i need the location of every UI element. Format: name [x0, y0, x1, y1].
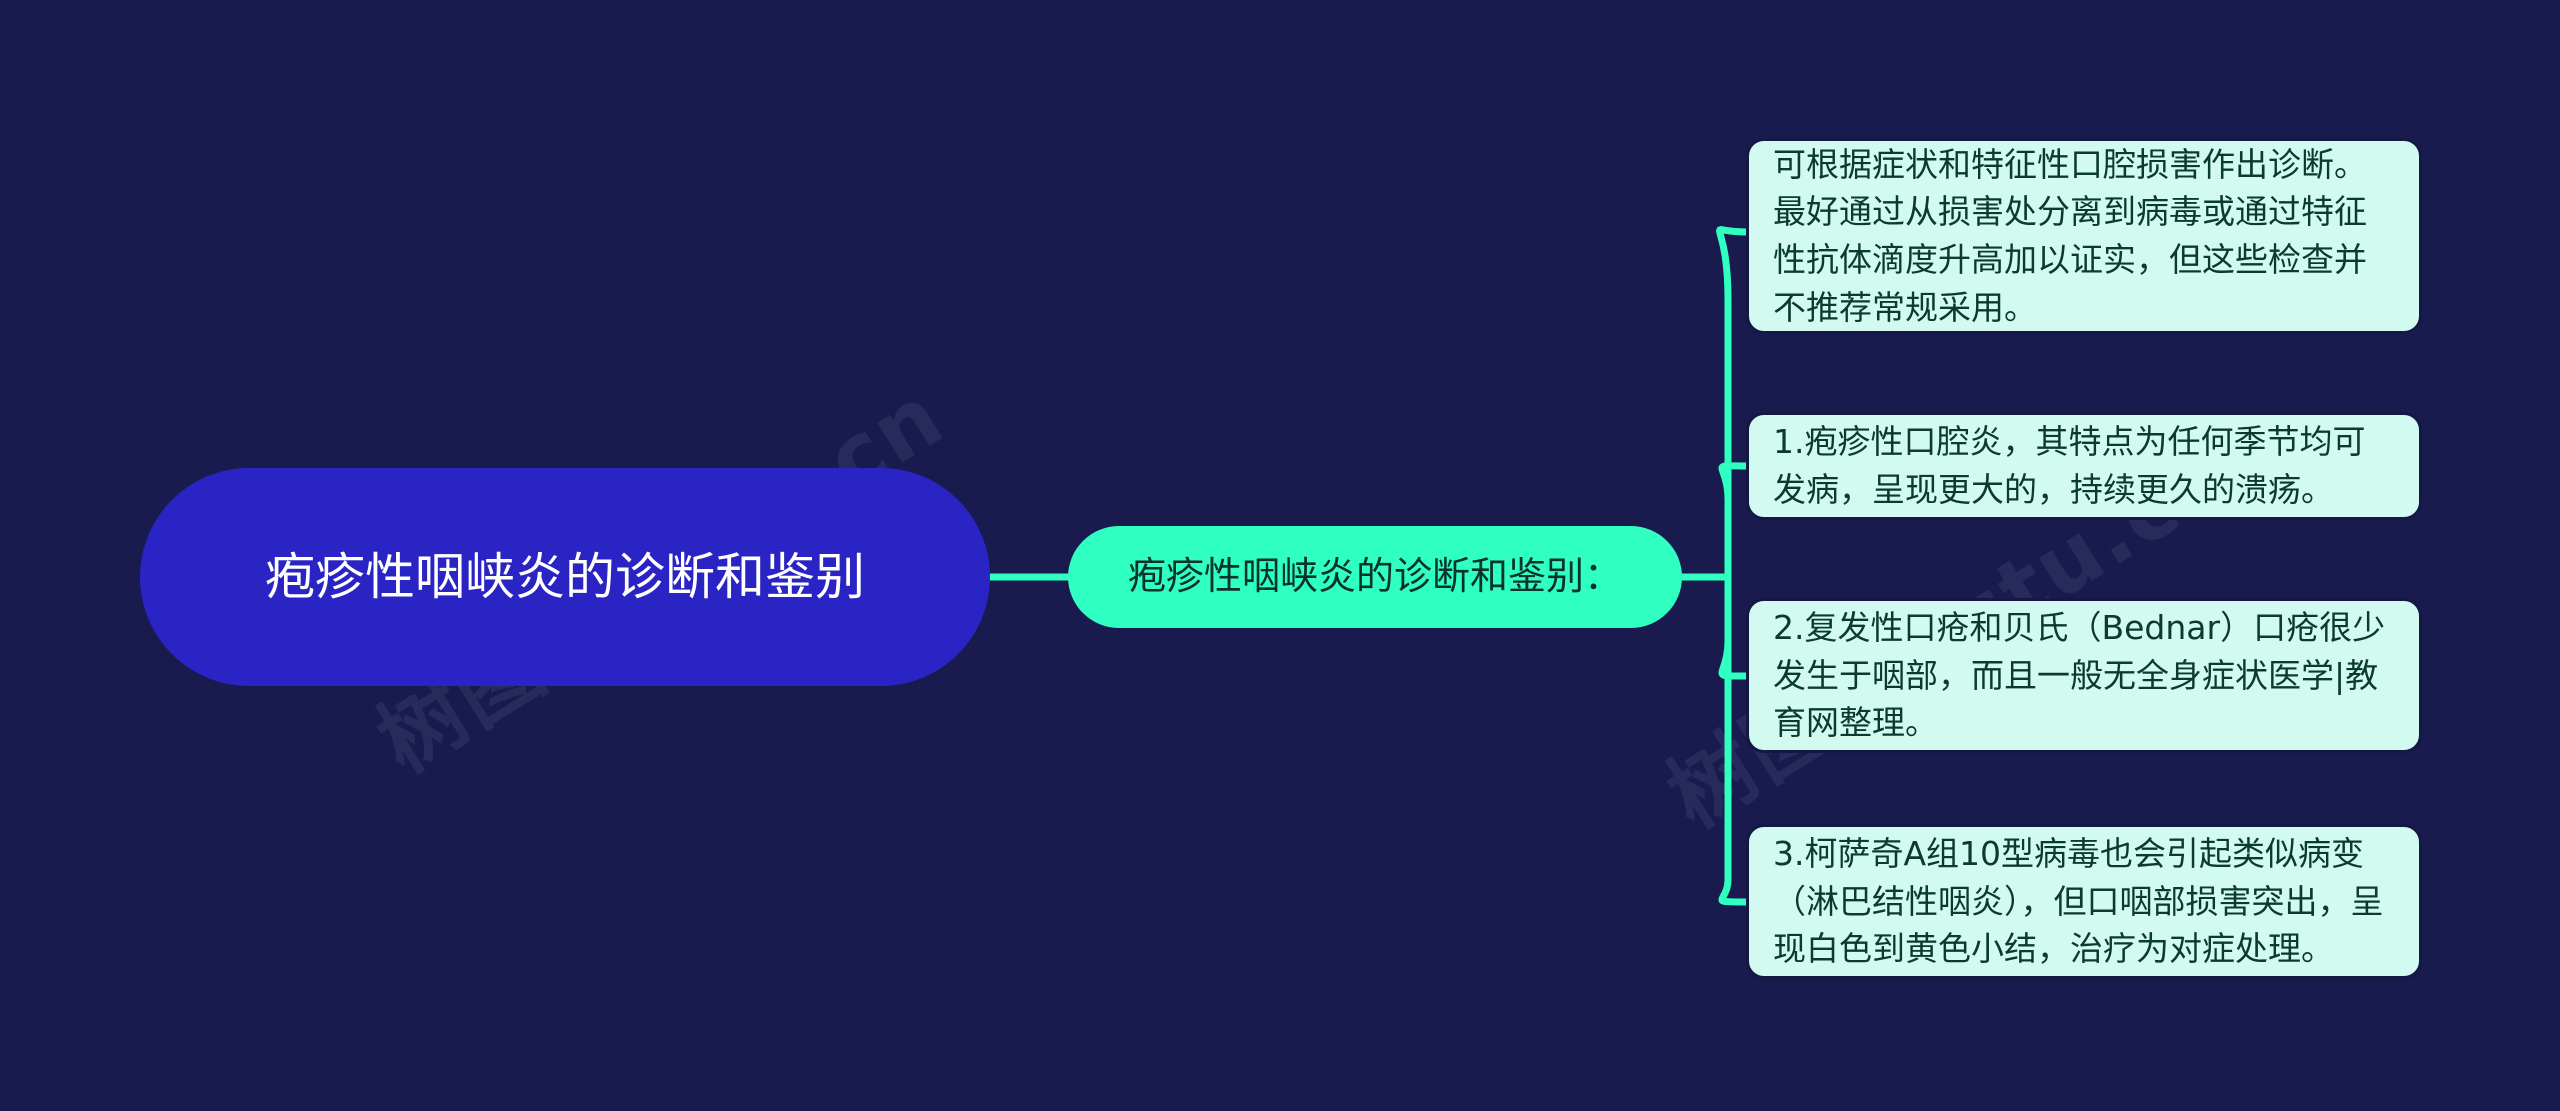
- edge-to-leaf-2: [1722, 466, 1746, 500]
- leaf-node-3-text: 2.复发性口疮和贝氏（Bednar）口疮很少发生于咽部，而且一般无全身症状医学|…: [1773, 604, 2397, 747]
- leaf-node-1[interactable]: 可根据症状和特征性口腔损害作出诊断。最好通过从损害处分离到病毒或通过特征性抗体滴…: [1746, 138, 2422, 334]
- leaf-node-1-text: 可根据症状和特征性口腔损害作出诊断。最好通过从损害处分离到病毒或通过特征性抗体滴…: [1773, 141, 2397, 331]
- leaf-node-2-text: 1.疱疹性口腔炎，其特点为任何季节均可发病，呈现更大的，持续更久的溃疡。: [1773, 418, 2397, 513]
- leaf-node-4-text: 3.柯萨奇A组10型病毒也会引起类似病变（淋巴结性咽炎），但口咽部损害突出，呈现…: [1773, 830, 2397, 973]
- branch-node[interactable]: 疱疹性咽峡炎的诊断和鉴别：: [1068, 526, 1682, 628]
- root-node[interactable]: 疱疹性咽峡炎的诊断和鉴别: [140, 468, 990, 686]
- leaf-node-3[interactable]: 2.复发性口疮和贝氏（Bednar）口疮很少发生于咽部，而且一般无全身症状医学|…: [1746, 598, 2422, 753]
- branch-node-label: 疱疹性咽峡炎的诊断和鉴别：: [1128, 552, 1622, 601]
- root-node-label: 疱疹性咽峡炎的诊断和鉴别: [265, 545, 865, 609]
- leaf-node-4[interactable]: 3.柯萨奇A组10型病毒也会引起类似病变（淋巴结性咽炎），但口咽部损害突出，呈现…: [1746, 824, 2422, 979]
- mindmap-canvas: 树图 shutu.cn 树图 shutu.cn 疱疹性咽峡炎的诊断和鉴别 疱疹性…: [0, 0, 2560, 1111]
- edge-to-leaf-4: [1722, 880, 1746, 902]
- edge-to-leaf-3: [1722, 640, 1746, 676]
- leaf-node-2[interactable]: 1.疱疹性口腔炎，其特点为任何季节均可发病，呈现更大的，持续更久的溃疡。: [1746, 412, 2422, 520]
- edge-to-leaf-1: [1720, 230, 1746, 300]
